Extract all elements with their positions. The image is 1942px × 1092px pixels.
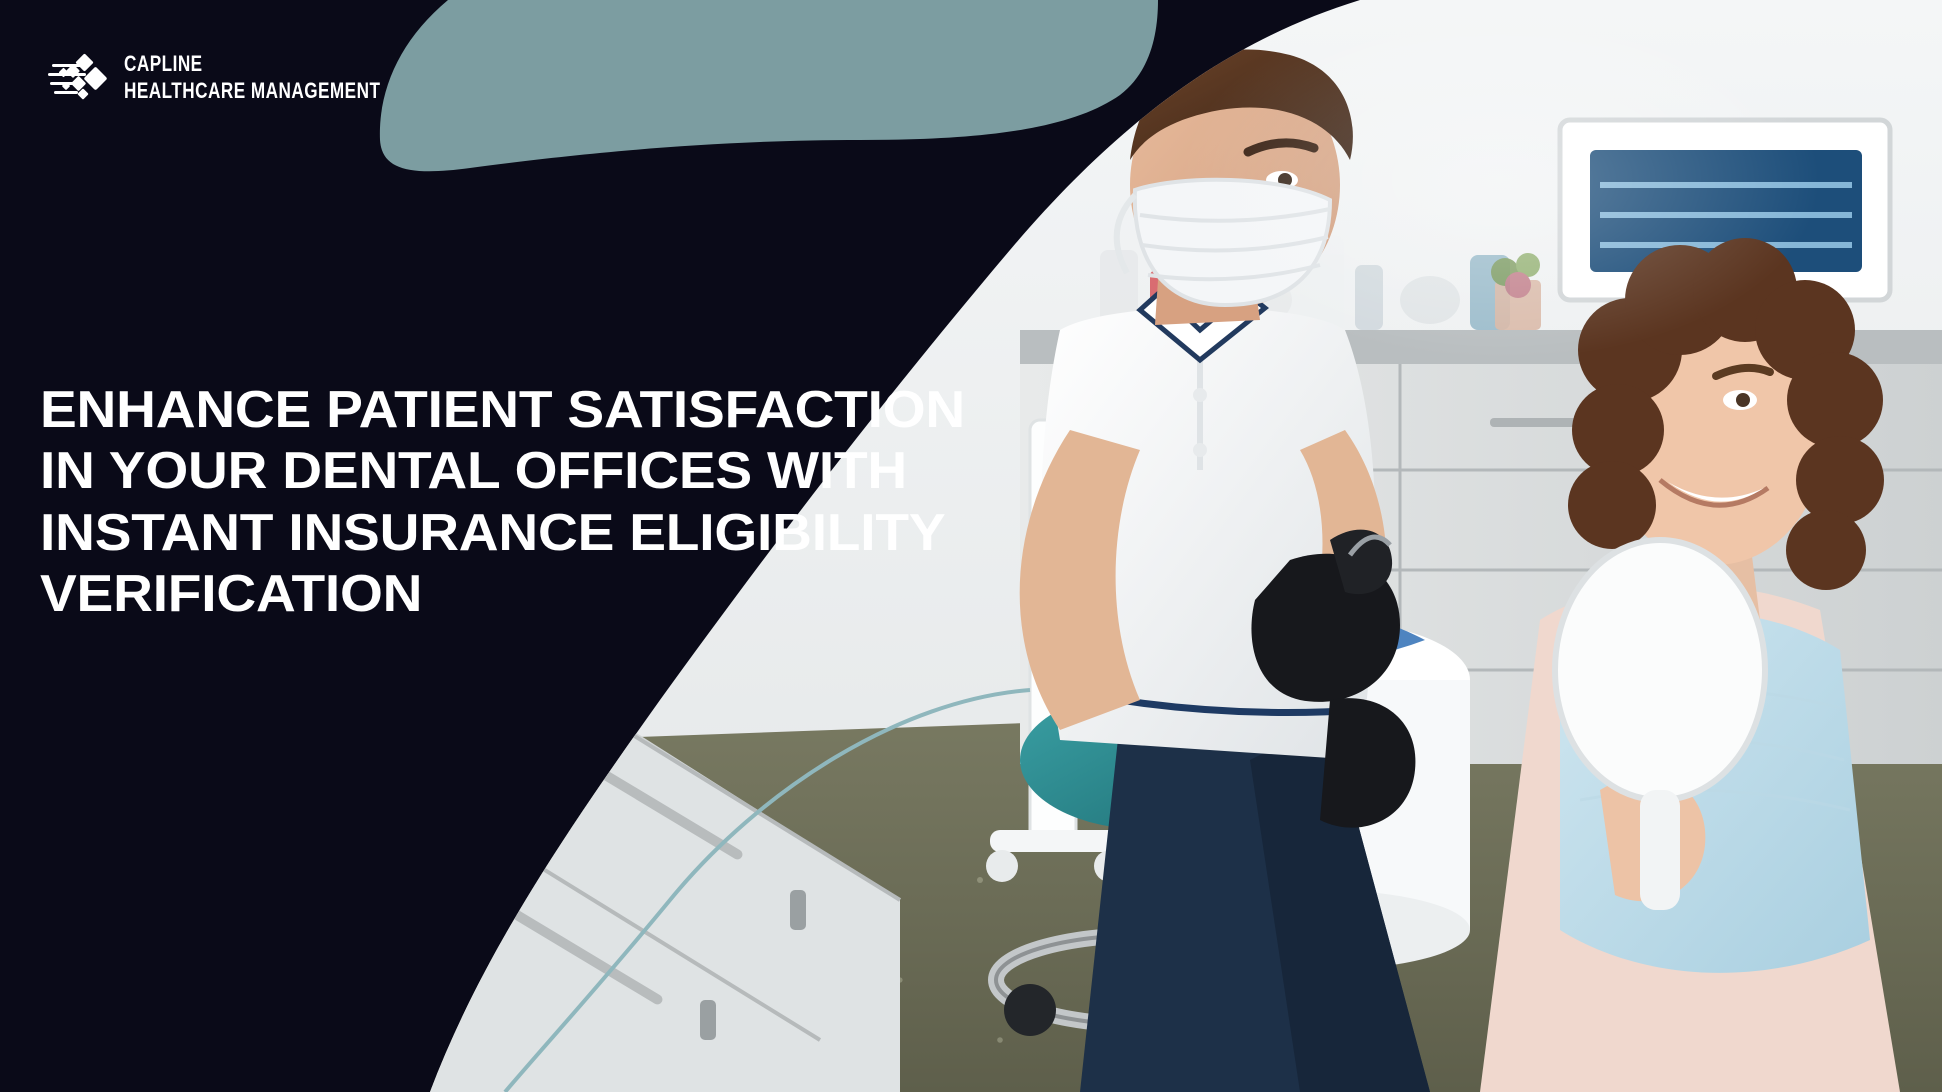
brand-wordmark: CAPLINE HEALTHCARE MANAGEMENT (124, 53, 453, 102)
diamond-network-icon (48, 52, 110, 102)
headline-line-4: VERIFICATION (40, 564, 1100, 625)
hero-banner: CAPLINE HEALTHCARE MANAGEMENT ENHANCE PA… (0, 0, 1942, 1092)
brand-logo[interactable]: CAPLINE HEALTHCARE MANAGEMENT (48, 52, 453, 102)
headline-line-3: INSTANT INSURANCE ELIGIBILITY (40, 503, 1100, 564)
headline-line-2: IN YOUR DENTAL OFFICES WITH (40, 441, 1100, 502)
brand-name-line2: HEALTHCARE MANAGEMENT (124, 80, 380, 102)
brand-name-line1: CAPLINE (124, 53, 380, 75)
page-title: ENHANCE PATIENT SATISFACTION IN YOUR DEN… (40, 380, 1040, 625)
headline-line-1: ENHANCE PATIENT SATISFACTION (40, 380, 1100, 441)
